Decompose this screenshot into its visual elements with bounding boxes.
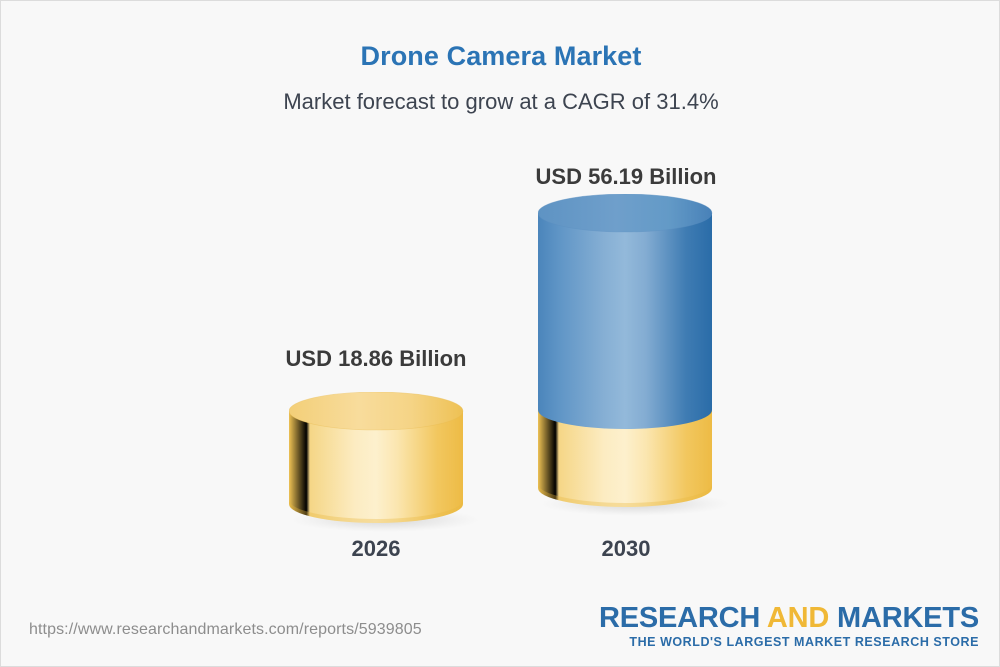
cylinder-2026[interactable] xyxy=(289,392,489,532)
category-label-2030: 2030 xyxy=(526,536,726,562)
plot-area: USD 18.86 Billion 2026 USD 56.19 Billi xyxy=(1,1,1000,601)
logo-word-and: AND xyxy=(767,602,837,634)
chart-canvas: Drone Camera Market Market forecast to g… xyxy=(0,0,1000,667)
cylinder-2030[interactable] xyxy=(538,194,738,519)
category-label-2026: 2026 xyxy=(276,536,476,562)
research-and-markets-logo[interactable]: RESEARCH AND MARKETS THE WORLD'S LARGEST… xyxy=(599,603,979,649)
logo-tagline: THE WORLD'S LARGEST MARKET RESEARCH STOR… xyxy=(599,635,979,649)
source-url[interactable]: https://www.researchandmarkets.com/repor… xyxy=(29,621,422,639)
logo-wordmark: RESEARCH AND MARKETS xyxy=(599,603,979,633)
logo-word-research: RESEARCH xyxy=(599,602,767,634)
bar-value-label-2026: USD 18.86 Billion xyxy=(276,346,476,372)
logo-word-markets: MARKETS xyxy=(837,602,979,634)
bar-value-label-2030: USD 56.19 Billion xyxy=(526,164,726,190)
